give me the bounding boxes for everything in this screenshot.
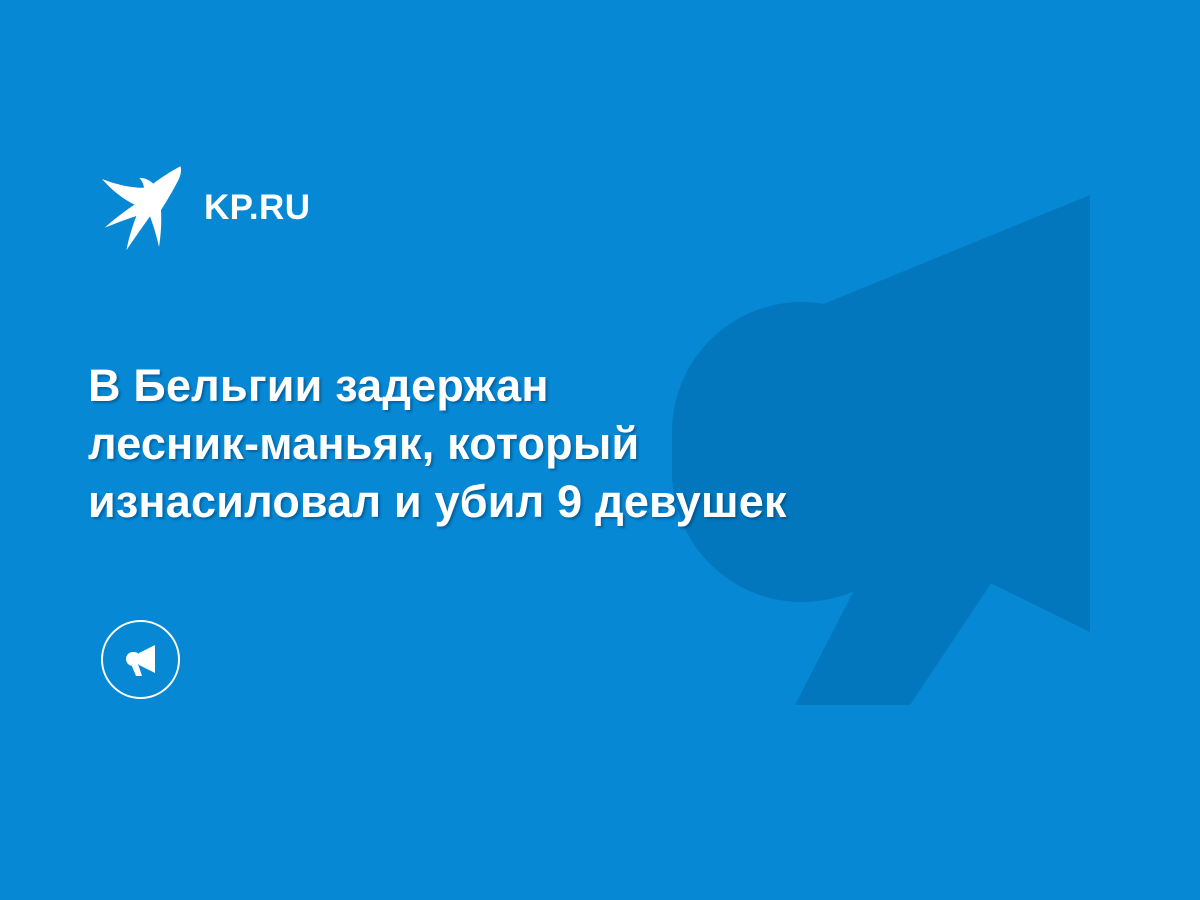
brand-wordmark: KP.RU <box>204 190 310 225</box>
megaphone-badge[interactable] <box>101 620 180 699</box>
headline-line-3: изнасиловал и убил 9 девушек <box>88 473 1008 531</box>
headline-line-2: лесник-маньяк, который <box>88 415 1008 473</box>
share-card: KP.RU В Бельгии задержан лесник-маньяк, … <box>0 0 1200 900</box>
headline-line-1: В Бельгии задержан <box>88 357 1008 415</box>
swallow-bird-icon <box>96 163 188 251</box>
brand-logo[interactable]: KP.RU <box>96 163 310 251</box>
megaphone-watermark-handle <box>795 540 1020 705</box>
page-title: В Бельгии задержан лесник-маньяк, которы… <box>88 357 1008 531</box>
megaphone-icon <box>121 640 161 680</box>
